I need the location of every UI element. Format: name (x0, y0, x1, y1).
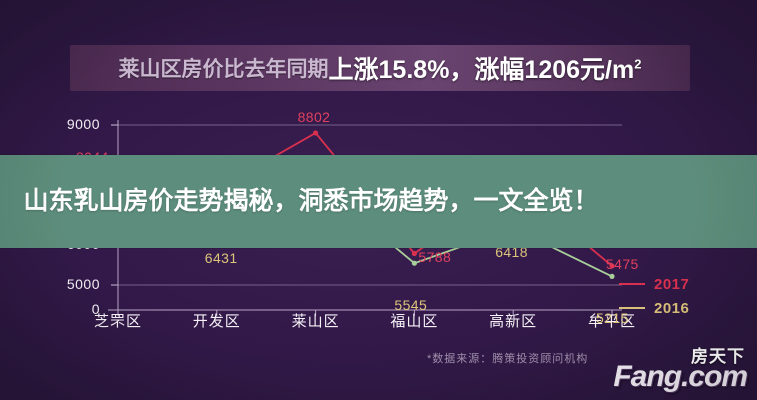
chart-legend: 20172016 (619, 272, 739, 320)
data-point (412, 251, 417, 256)
legend-item-2016[interactable]: 2016 (619, 296, 739, 320)
data-label: 8802 (298, 109, 331, 125)
headline-main: 上涨15.8%，涨幅1206元/m2 (329, 50, 642, 86)
headline-prefix: 莱山区房价比去年同期 (119, 53, 329, 83)
x-axis-tick-label: 开发区 (177, 310, 257, 331)
article-title-overlay: 山东乳山房价走势揭秘，洞悉市场趋势，一文全览！ (0, 155, 757, 248)
article-title-text: 山东乳山房价走势揭秘，洞悉市场趋势，一文全览！ (24, 185, 734, 218)
headline-superscript: 2 (634, 57, 641, 72)
legend-line-icon (619, 307, 645, 309)
headline-banner: 莱山区房价比去年同期上涨15.8%，涨幅1206元/m2 (70, 45, 690, 91)
legend-line-icon (619, 283, 645, 285)
x-axis-tick-label: 莱山区 (276, 310, 356, 331)
legend-label: 2016 (654, 300, 689, 317)
legend-item-2017[interactable]: 2017 (619, 272, 739, 296)
y-axis-tick-label: 5000 (40, 276, 100, 292)
legend-label: 2017 (654, 276, 689, 293)
data-label: 5788 (418, 249, 451, 265)
chart-image: 莱山区房价比去年同期上涨15.8%，涨幅1206元/m2 05000600070… (0, 0, 757, 400)
data-point (609, 274, 614, 279)
y-axis-tick-label: 9000 (40, 116, 100, 132)
x-axis-tick-label: 高新区 (473, 310, 553, 331)
data-label: 5475 (606, 256, 639, 272)
watermark-en-text: Fang.com (613, 360, 747, 394)
data-source-note: *数据来源：腾策投资顾问机构 (427, 350, 588, 366)
watermark: 房天下 Fang.com (617, 340, 749, 396)
data-point (412, 261, 417, 266)
data-label: 5545 (394, 297, 427, 313)
data-point (313, 130, 318, 135)
data-label: 6431 (205, 250, 238, 266)
x-axis-tick-label: 芝罘区 (78, 310, 158, 331)
